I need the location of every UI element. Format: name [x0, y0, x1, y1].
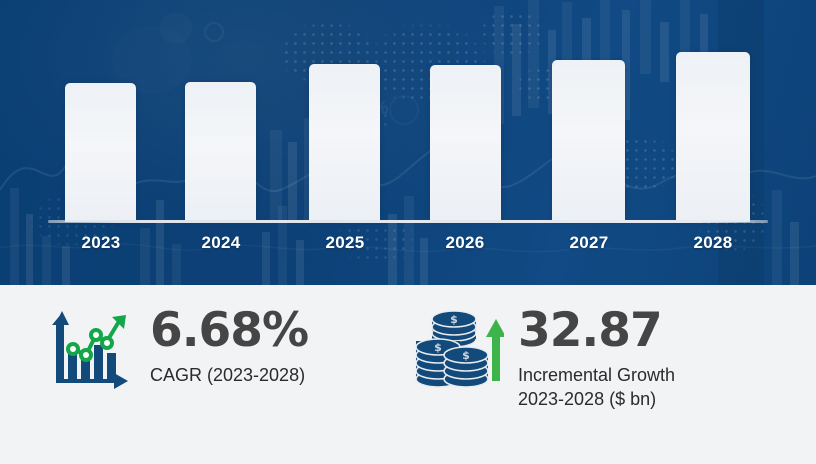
- stat-cagr: 6.68% CAGR (2023-2028): [48, 307, 308, 394]
- x-tick-label-2024: 2024: [180, 233, 262, 253]
- svg-text:$: $: [434, 341, 442, 354]
- bar-2024: [185, 82, 256, 222]
- stat-incremental-growth-value: 32.87: [518, 307, 675, 355]
- bar-2026: [430, 65, 501, 222]
- x-tick-label-2028: 2028: [672, 233, 754, 253]
- stats-strip: 6.68% CAGR (2023-2028): [0, 285, 816, 464]
- growth-chart-icon: [48, 307, 136, 394]
- bar-2027: [552, 60, 625, 222]
- chart-panel: +1.0% 2023 2024 2025 2026 2027 2028: [0, 0, 816, 285]
- bar-2025: [309, 64, 380, 222]
- x-tick-label-2023: 2023: [60, 233, 142, 253]
- bar-2023: [65, 83, 136, 222]
- x-tick-label-2027: 2027: [548, 233, 630, 253]
- infographic-root: +1.0% 2023 2024 2025 2026 2027 2028: [0, 0, 816, 464]
- stat-incremental-growth: $ $ $ 32.87 Incremental Growth 2023-2028…: [412, 307, 675, 411]
- svg-text:$: $: [462, 349, 470, 362]
- bar-2028: [676, 52, 750, 222]
- x-tick-label-2025: 2025: [304, 233, 386, 253]
- x-axis-line: [48, 220, 768, 223]
- stat-cagr-caption: CAGR (2023-2028): [150, 364, 308, 388]
- x-tick-label-2026: 2026: [424, 233, 506, 253]
- stat-incremental-growth-caption: Incremental Growth 2023-2028 ($ bn): [518, 364, 675, 412]
- stat-incremental-growth-text: 32.87 Incremental Growth 2023-2028 ($ bn…: [518, 307, 675, 411]
- stat-cagr-text: 6.68% CAGR (2023-2028): [150, 307, 308, 388]
- stat-cagr-value: 6.68%: [150, 307, 308, 355]
- coins-stack-icon: $ $ $: [412, 307, 504, 394]
- bar-chart-plot: 2023 2024 2025 2026 2027 2028: [0, 0, 816, 285]
- svg-text:$: $: [450, 313, 458, 326]
